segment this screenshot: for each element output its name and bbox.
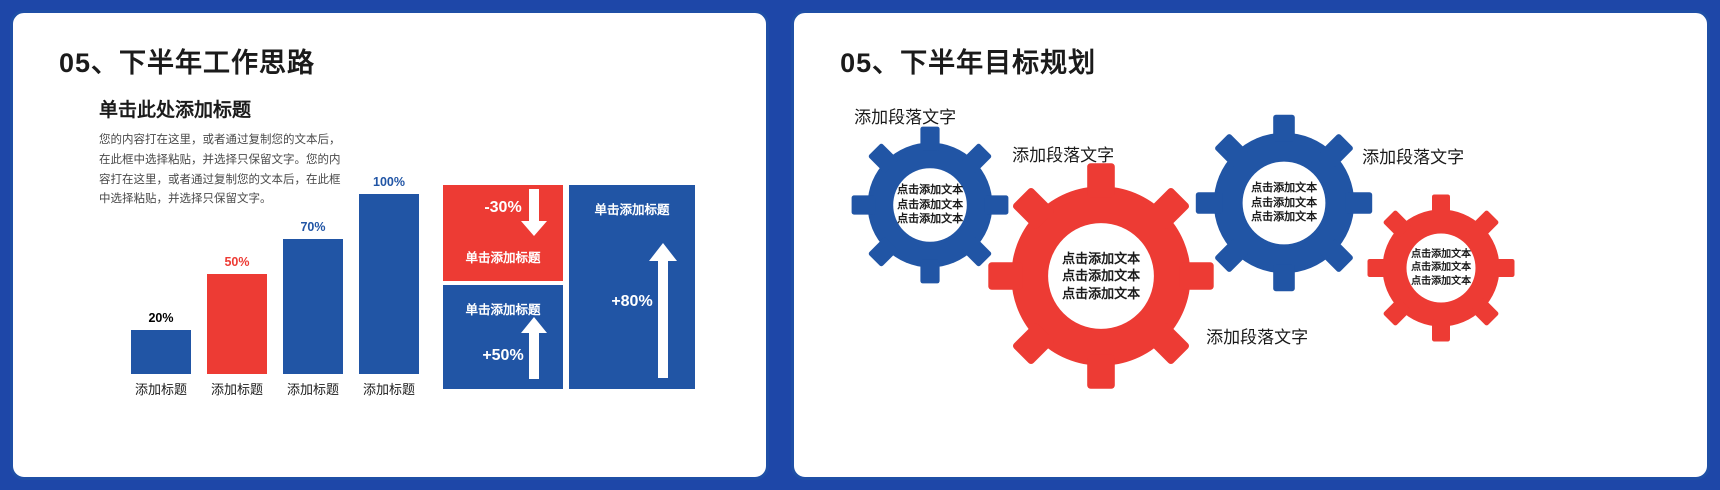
blue-bottom-title: 单击添加标题 [443, 299, 563, 318]
bar-chart: 20% 50% 70% 100% 添加标题 添加标题 [123, 168, 433, 398]
arrow-up-icon-large [649, 243, 677, 378]
bar-2 [207, 274, 267, 374]
category-label-4: 添加标题 [351, 379, 427, 398]
gear-blue-right: 点击添加文本 点击添加文本 点击添加文本 [1194, 113, 1374, 293]
caption-4: 添加段落文字 [1206, 323, 1308, 348]
blue-growth-block-50: 单击添加标题 +50% [443, 285, 563, 389]
gear-red-right: 点击添加文本 点击添加文本 点击添加文本 [1366, 193, 1516, 343]
category-label-2: 添加标题 [199, 379, 275, 398]
bar-value-label-3: 70% [283, 220, 343, 234]
red-block-title: 单击添加标题 [443, 247, 563, 266]
gear-red-center: 点击添加文本 点击添加文本 点击添加文本 [986, 161, 1216, 391]
gear-icon-red-right [1366, 193, 1516, 343]
bar-3 [283, 239, 343, 374]
bar-chart-bars: 20% 50% 70% 100% [123, 178, 433, 374]
caption-1: 添加段落文字 [854, 103, 956, 128]
slides-stage: 05、下半年工作思路 单击此处添加标题 您的内容打在这里，或者通过复制您的文本后… [0, 0, 1720, 490]
category-label-3: 添加标题 [275, 379, 351, 398]
blue-top-title: 单击添加标题 [569, 199, 695, 218]
page-title-right: 05、下半年目标规划 [840, 41, 1096, 80]
gear-icon-red-center [986, 161, 1216, 391]
arrow-down-icon [521, 189, 547, 237]
lead-title: 单击此处添加标题 [99, 95, 251, 122]
bar-1 [131, 330, 191, 374]
bar-chart-categories: 添加标题 添加标题 添加标题 添加标题 [123, 376, 433, 398]
blue-growth-block-80: 单击添加标题 +80% [569, 185, 695, 389]
bar-value-label-2: 50% [207, 255, 267, 269]
bar-value-label-1: 20% [131, 311, 191, 325]
caption-3: 添加段落文字 [1362, 143, 1464, 168]
gear-icon-blue-right [1194, 113, 1374, 293]
bar-value-label-4: 100% [359, 175, 419, 189]
red-decline-block: -30% 单击添加标题 [443, 185, 563, 281]
page-title-left: 05、下半年工作思路 [59, 41, 315, 80]
category-label-1: 添加标题 [123, 379, 199, 398]
slide-goal-plan: 05、下半年目标规划 [791, 10, 1710, 480]
bar-4 [359, 194, 419, 374]
caption-2: 添加段落文字 [1012, 141, 1114, 166]
slide-work-plan: 05、下半年工作思路 单击此处添加标题 您的内容打在这里，或者通过复制您的文本后… [10, 10, 769, 480]
arrow-up-icon-small [521, 317, 547, 379]
